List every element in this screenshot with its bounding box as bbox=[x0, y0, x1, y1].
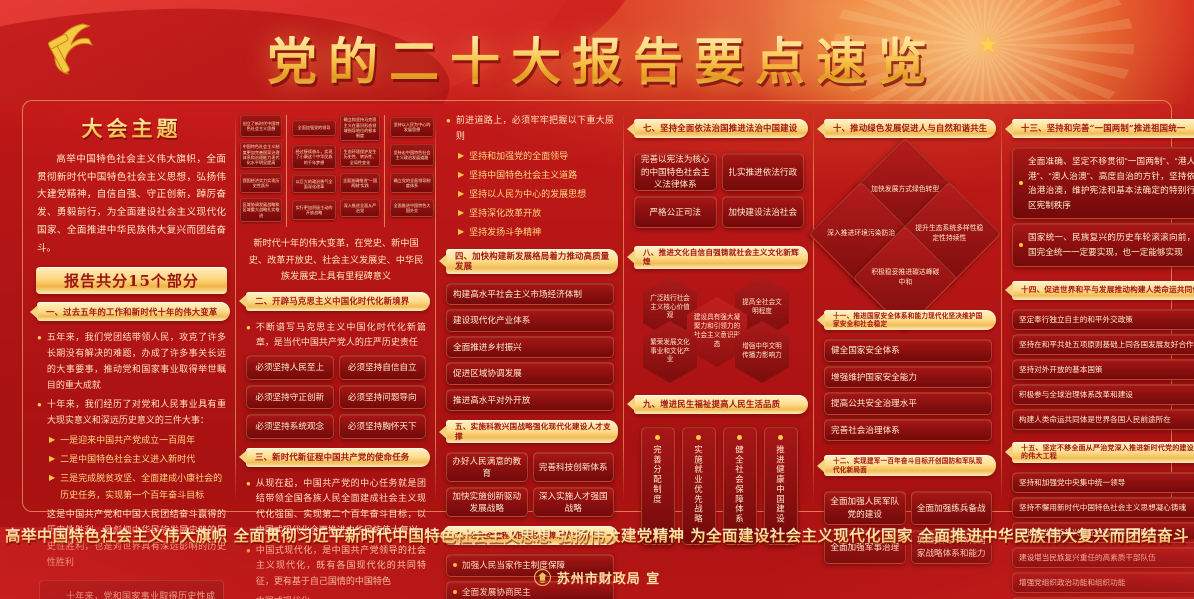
item-card[interactable]: 国家统一、民族复兴的历史车轮滚滚向前，祖国完全统一一定要实现，也一定能够实现 bbox=[1012, 223, 1194, 266]
sub-text: 坚持中国特色社会主义道路 bbox=[469, 167, 577, 184]
section-13-title[interactable]: 十三、坚持和完善“一国两制”推进祖国统一 bbox=[1012, 119, 1194, 138]
achievements-flowchart: 创立了新时代中国特色社会主义思想 中国特色社会主义制度更加完善国家治理体系和治理… bbox=[240, 111, 432, 231]
section-1-bullet-1: ● 五年来，我们党团结带领人民，攻克了许多长期没有解决的难题，办成了许多事关长远… bbox=[29, 328, 234, 395]
bullet-text: 十年来，我们经历了对党和人民事业具有重大现实意义和深远历史意义的三件大事： bbox=[47, 397, 226, 429]
sub-text: 坚持以人民为中心的发展思想 bbox=[469, 186, 586, 203]
section-7-items: 完善以宪法为核心的中国特色社会主义法律体系 扎实推进依法行政 严格公正司法 加快… bbox=[626, 145, 812, 230]
item-card[interactable]: 坚持在和平共处五项原则基础上同各国发展友好合作 bbox=[1012, 334, 1194, 355]
suzhou-finance-bureau-logo bbox=[534, 569, 551, 586]
footer-org: 苏州市财政局 宣 bbox=[0, 568, 1194, 587]
bullet-dot-icon bbox=[778, 435, 783, 440]
principle-sub: ▶坚持以人民为中心的发展思想 bbox=[438, 185, 622, 204]
item-card[interactable]: 提高公共安全治理水平 bbox=[824, 392, 992, 414]
column-sections-2-3: 创立了新时代中国特色社会主义思想 中国特色社会主义制度更加完善国家治理体系和治理… bbox=[238, 107, 434, 507]
bullet-dot-icon bbox=[1019, 243, 1023, 247]
flow-axis-right bbox=[384, 115, 385, 227]
bullet-dot-icon bbox=[1019, 181, 1023, 185]
bullet-dot-icon: ● bbox=[37, 397, 42, 429]
column-divider bbox=[1001, 113, 1002, 503]
item-card[interactable]: 坚持对外开放的基本国策 bbox=[1012, 359, 1194, 380]
section-15-title[interactable]: 十五、坚定不移全面从严治党深入推进新时代党的建设新的伟大工程 bbox=[1012, 442, 1194, 464]
item-label: 提升生态系统多样性稳定性持续性 bbox=[913, 224, 985, 243]
section-12-title[interactable]: 十二、实现建军一百年奋斗目标开创国防和军队现代化新局面 bbox=[824, 455, 996, 475]
sub-text: 一是迎来中国共产党成立一百周年 bbox=[60, 432, 195, 449]
column-theme: 大会主题 高举中国特色社会主义伟大旗帜，全面贯彻新时代中国特色社会主义思想，弘扬… bbox=[29, 107, 234, 507]
flow-box: 全面加强党的领导 bbox=[292, 120, 336, 136]
column-sections-10-12: 十、推动绿色发展促进人与自然和谐共生 加快发展方式绿色转型 深入推进环境污染防治… bbox=[816, 107, 1000, 507]
section-1-bullet-2: ● 十年来，我们经历了对党和人民事业具有重大现实意义和深远历史意义的三件大事： bbox=[29, 395, 234, 431]
flow-box: 中国特色社会主义制度更加完善国家治理体系和治理能力现代化水平明显提高 bbox=[240, 142, 282, 168]
footer-slogan: 高举中国特色社会主义伟大旗帜 全面贯彻习近平新时代中国特色社会主义思想 弘扬伟大… bbox=[0, 524, 1194, 546]
section-1-sub-2: ▶ 二是中国特色社会主义进入新时代 bbox=[29, 450, 234, 469]
item-label: 实施就业优先战略 bbox=[693, 445, 705, 524]
item-card[interactable]: 构建高水平社会主义市场经济体制 bbox=[446, 283, 614, 305]
triangle-icon: ▶ bbox=[458, 186, 464, 203]
page-title: 党的二十大报告要点速览 bbox=[0, 22, 1194, 94]
section-5-title[interactable]: 五、实施科教兴国战略强化现代化建设人才支撑 bbox=[446, 420, 618, 443]
parts-count-plaque: 报告共分15个部分 bbox=[36, 267, 227, 294]
section-14-title[interactable]: 十四、促进世界和平与发展推动构建人类命运共同体 bbox=[1012, 281, 1194, 300]
org-name: 苏州市财政局 宣 bbox=[557, 568, 661, 587]
item-card[interactable]: 全面加强练兵备战 bbox=[911, 491, 993, 525]
section-2-cards: 必须坚持人民至上 必须坚持自信自立 必须坚持守正创新 必须坚持问题导向 必须坚持… bbox=[238, 353, 434, 440]
principle-card[interactable]: 必须坚持守正创新 bbox=[246, 385, 334, 409]
item-card[interactable]: 全面准确、坚定不移贯彻“一国两制”、“港人治港”、“澳人治澳”、高度自治的方针，… bbox=[1012, 147, 1194, 219]
item-card[interactable]: 增强维护国家安全能力 bbox=[824, 366, 992, 388]
section-1-sub-3: ▶ 三是完成脱贫攻坚、全面建成小康社会的历史任务，实现第一个百年奋斗目标 bbox=[29, 469, 234, 505]
flow-box: 坚持以人民为中心的发展思想 bbox=[390, 117, 434, 137]
item-card[interactable]: 办好人民满意的教育 bbox=[446, 452, 528, 482]
item-label: 推进健康中国建设 bbox=[775, 445, 787, 524]
item-label: 加快发展方式绿色转型 bbox=[869, 185, 941, 195]
flow-box: 实行更加积极主动的开放战略 bbox=[292, 200, 336, 220]
principle-sub: ▶坚持深化改革开放 bbox=[438, 204, 622, 223]
flowchart-caption: 新时代十年的伟大变革，在党史、新中国史、改革开放史、社会主义发展史、中华民族发展… bbox=[238, 231, 434, 285]
column-divider bbox=[623, 113, 624, 503]
flow-box: 我国经济实力实现历史性跃升 bbox=[240, 173, 282, 193]
item-card[interactable]: 积极参与全球治理体系改革和建设 bbox=[1012, 384, 1194, 405]
item-card[interactable]: 全面加强人民军队党的建设 bbox=[824, 491, 906, 525]
section-11-title[interactable]: 十一、推进国家安全体系和能力现代化坚决维护国家安全和社会稳定 bbox=[824, 310, 996, 330]
triangle-icon: ▶ bbox=[49, 432, 55, 449]
sub-text: 坚持深化改革开放 bbox=[469, 205, 541, 222]
principle-card[interactable]: 必须坚持人民至上 bbox=[246, 355, 334, 379]
theme-text: 高举中国特色社会主义伟大旗帜，全面贯彻新时代中国特色社会主义思想，弘扬伟大建党精… bbox=[29, 151, 234, 257]
flow-box: 全面推进中国特色大国外交 bbox=[390, 199, 434, 217]
principle-card[interactable]: 必须坚持问题导向 bbox=[339, 385, 427, 409]
culture-hexagons: 广泛践行社会主义核心价值观 提高全社会文明程度 建设具有强大凝聚力和引领力的社会… bbox=[631, 277, 807, 377]
flow-box: 确立党的全面领导制度体系 bbox=[390, 173, 434, 193]
section-14-items: 坚定奉行独立自主的和平外交政策 坚持在和平共处五项原则基础上同各国发展友好合作 … bbox=[1004, 307, 1194, 432]
flow-box: 深入推进全面从严治党 bbox=[340, 199, 380, 217]
item-card[interactable]: 加快实施创新驱动发展战略 bbox=[446, 487, 528, 517]
bullet-dot-icon: ● bbox=[246, 320, 251, 352]
column-sections-4-6: ● 前进道路上，必须牢牢把握以下重大原则 ▶坚持和加强党的全面领导 ▶坚持中国特… bbox=[438, 107, 622, 507]
bullet-dot-icon bbox=[737, 435, 742, 440]
column-sections-7-9: 七、坚持全面依法治国推进法治中国建设 完善以宪法为核心的中国特色社会主义法律体系… bbox=[626, 107, 812, 507]
item-card[interactable]: 加快建设法治社会 bbox=[722, 196, 805, 228]
green-development-diamonds: 加快发展方式绿色转型 深入推进环境污染防治 提升生态系统多样性稳定性持续性 积极… bbox=[816, 145, 1000, 303]
item-card[interactable]: 坚持不懈用新时代中国特色社会主义思想凝心铸魂 bbox=[1012, 497, 1194, 518]
column-sections-13-15: 十三、坚持和完善“一国两制”推进祖国统一 全面准确、坚定不移贯彻“一国两制”、“… bbox=[1004, 107, 1194, 507]
flow-box: 确立和坚持马克思主义在意识形态领域指导地位的根本制度 bbox=[340, 115, 380, 141]
principle-sub: ▶坚持和加强党的全面领导 bbox=[438, 147, 622, 166]
column-divider bbox=[435, 113, 436, 503]
section-13-items: 全面准确、坚定不移贯彻“一国两制”、“港人治港”、“澳人治澳”、高度自治的方针，… bbox=[1004, 145, 1194, 269]
bullet-dot-icon: ● bbox=[37, 330, 42, 393]
item-card[interactable]: 深入实施人才强国战略 bbox=[533, 487, 615, 517]
principle-sub: ▶坚持发扬斗争精神 bbox=[438, 223, 622, 242]
triangle-icon: ▶ bbox=[458, 205, 464, 222]
section-8-title[interactable]: 八、推进文化自信自强铸就社会主义文化新辉煌 bbox=[634, 246, 808, 269]
bullet-dot-icon: ● bbox=[446, 113, 451, 145]
item-card[interactable]: 严格公正司法 bbox=[634, 196, 717, 228]
item-card[interactable]: 完善科技创新体系 bbox=[533, 452, 615, 482]
section-9-title[interactable]: 九、增进民生福祉提高人民生活品质 bbox=[634, 395, 808, 414]
item-label: 国家统一、民族复兴的历史车轮滚滚向前，祖国完全统一一定要实现，也一定能够实现 bbox=[1028, 230, 1194, 259]
item-card[interactable]: 扎实推进依法行政 bbox=[722, 153, 805, 191]
item-label: 积极稳妥推进碳达峰碳中和 bbox=[869, 268, 941, 287]
flow-box: 区域协调发展战略和区域重大战略扎实推进 bbox=[240, 198, 282, 222]
section-7-title[interactable]: 七、坚持全面依法治国推进法治中国建设 bbox=[634, 119, 808, 138]
item-label: 完善分配制度 bbox=[652, 445, 664, 504]
bullet-text: 五年来，我们党团结带领人民，攻克了许多长期没有解决的难题，办成了许多事关长远的大… bbox=[47, 330, 226, 393]
flow-box: 以巨大的政治勇气全面深化改革 bbox=[292, 175, 336, 193]
section-3-title[interactable]: 三、新时代新征程中国共产党的使命任务 bbox=[246, 448, 430, 467]
section-4-items: 构建高水平社会主义市场经济体制 建设现代化产业体系 全面推进乡村振兴 促进区域协… bbox=[438, 281, 622, 413]
item-card[interactable]: 完善以宪法为核心的中国特色社会主义法律体系 bbox=[634, 153, 717, 191]
item-card[interactable]: 坚定奉行独立自主的和平外交政策 bbox=[1012, 309, 1194, 330]
flow-box: 生态环境保护发生历史性、转折性、全局性变化 bbox=[340, 147, 380, 167]
principle-card[interactable]: 必须坚持自信自立 bbox=[339, 355, 427, 379]
triangle-icon: ▶ bbox=[458, 224, 464, 241]
section-1-title[interactable]: 一、过去五年的工作和新时代十年的伟大变革 bbox=[37, 302, 230, 321]
principles-bullet: ● 前进道路上，必须牢牢把握以下重大原则 bbox=[438, 107, 622, 147]
item-card[interactable]: 构建人类命运共同体是世界各国人民前途所在 bbox=[1012, 409, 1194, 430]
principle-sub: ▶坚持中国特色社会主义道路 bbox=[438, 166, 622, 185]
theme-heading: 大会主题 bbox=[29, 113, 234, 143]
section-10-title[interactable]: 十、推动绿色发展促进人与自然和谐共生 bbox=[824, 119, 996, 138]
flow-box: 坚持走中国特色社会主义政治发展道路 bbox=[390, 144, 434, 166]
flow-box: 创立了新时代中国特色社会主义思想 bbox=[240, 115, 282, 137]
item-label: 健全社会保障体系 bbox=[734, 445, 746, 524]
flow-box: 经过接续奋斗，实现了小康这个中华民族的千年梦想 bbox=[292, 145, 336, 169]
column-divider bbox=[235, 113, 236, 503]
sub-text: 三是完成脱贫攻坚、全面建成小康社会的历史任务，实现第一个百年奋斗目标 bbox=[60, 470, 226, 504]
sub-text: 坚持和加强党的全面领导 bbox=[469, 148, 568, 165]
principle-card[interactable]: 必须坚持胸怀天下 bbox=[339, 414, 427, 438]
item-label: 全面准确、坚定不移贯彻“一国两制”、“港人治港”、“澳人治澳”、高度自治的方针，… bbox=[1028, 154, 1194, 212]
item-card[interactable]: 推进高水平对外开放 bbox=[446, 389, 614, 411]
principle-card[interactable]: 必须坚持系统观念 bbox=[246, 414, 334, 438]
section-11-items: 健全国家安全体系 增强维护国家安全能力 提高公共安全治理水平 完善社会治理体系 bbox=[816, 337, 1000, 443]
triangle-icon: ▶ bbox=[49, 451, 55, 468]
item-card[interactable]: 建设现代化产业体系 bbox=[446, 309, 614, 331]
item-card[interactable]: 坚持和加强党中央集中统一领导 bbox=[1012, 472, 1194, 493]
bullet-dot-icon bbox=[696, 435, 701, 440]
bullet-dot-icon bbox=[655, 435, 660, 440]
triangle-icon: ▶ bbox=[49, 470, 55, 504]
triangle-icon: ▶ bbox=[458, 167, 464, 184]
item-label: 深入推进环境污染防治 bbox=[825, 229, 897, 239]
bullet-text: 不断谱写马克思主义中国化时代化新篇章，是当代中国共产党人的庄严历史责任 bbox=[256, 320, 426, 352]
section-2-bullet: ● 不断谱写马克思主义中国化时代化新篇章，是当代中国共产党人的庄严历史责任 bbox=[238, 318, 434, 354]
sub-text: 坚持发扬斗争精神 bbox=[469, 224, 541, 241]
section-1-sub-1: ▶ 一是迎来中国共产党成立一百周年 bbox=[29, 431, 234, 450]
item-card[interactable]: 促进区域协调发展 bbox=[446, 362, 614, 384]
flow-box: 全面准确推进“一国两制”实践 bbox=[340, 173, 380, 193]
section-4-title[interactable]: 四、加快构建新发展格局着力推动高质量发展 bbox=[446, 249, 618, 274]
item-card[interactable]: 全面推进乡村振兴 bbox=[446, 336, 614, 358]
section-5-items: 办好人民满意的教育 完善科技创新体系 加快实施创新驱动发展战略 深入实施人才强国… bbox=[438, 450, 622, 519]
triangle-icon: ▶ bbox=[458, 148, 464, 165]
item-card[interactable]: 完善社会治理体系 bbox=[824, 419, 992, 441]
section-2-title[interactable]: 二、开辟马克思主义中国化时代化新境界 bbox=[246, 292, 430, 311]
content-board: 大会主题 高举中国特色社会主义伟大旗帜，全面贯彻新时代中国特色社会主义思想，弘扬… bbox=[22, 100, 1172, 512]
sub-text: 二是中国特色社会主义进入新时代 bbox=[60, 451, 195, 468]
item-card[interactable]: 健全国家安全体系 bbox=[824, 339, 992, 361]
bullet-text: 前进道路上，必须牢牢把握以下重大原则 bbox=[456, 113, 614, 145]
flow-axis-left bbox=[286, 115, 287, 227]
column-divider bbox=[813, 113, 814, 503]
